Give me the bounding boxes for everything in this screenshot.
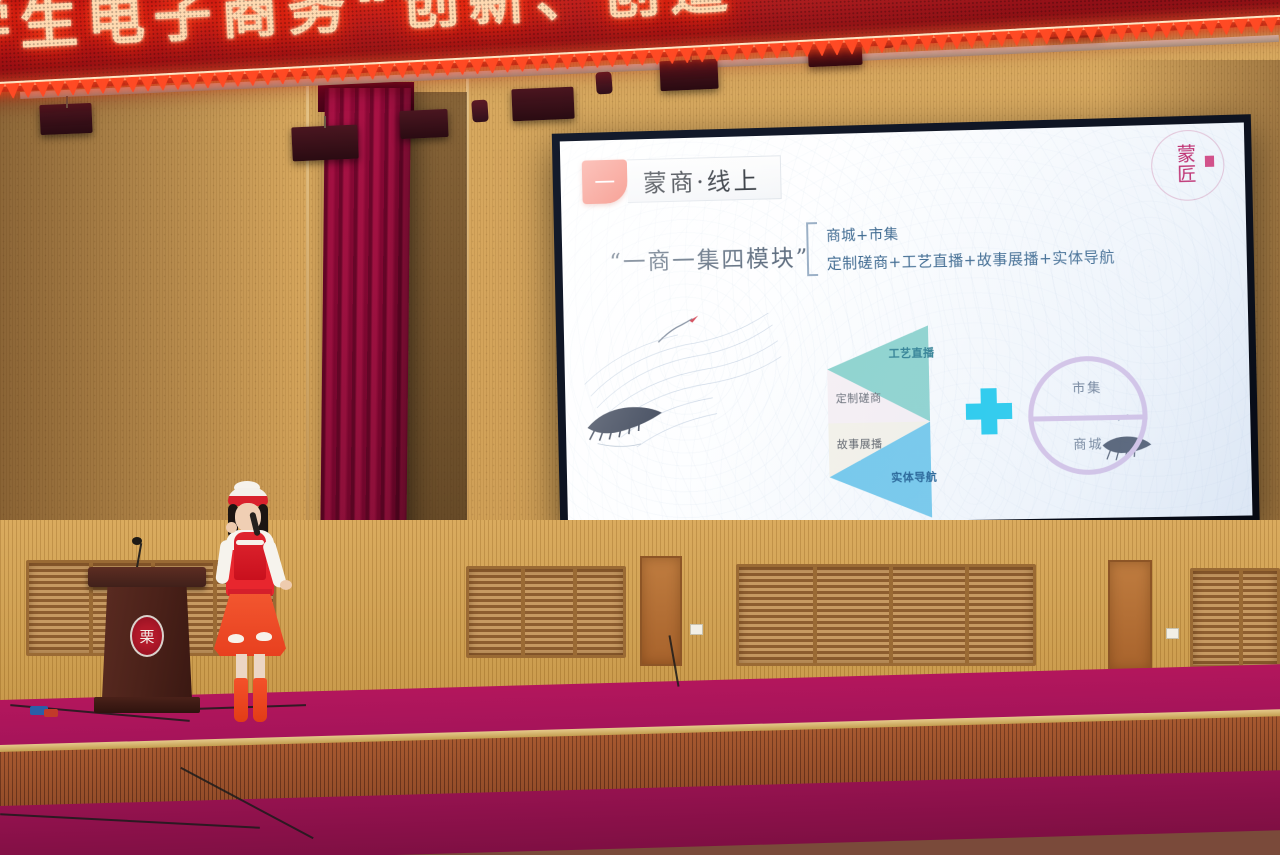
fringe-triangle — [110, 77, 126, 93]
wall-vent-louver — [1190, 568, 1280, 668]
fringe-triangle — [1203, 20, 1219, 36]
fringe-triangle — [215, 72, 231, 88]
wall-socket-plate[interactable] — [1166, 628, 1179, 639]
fringe-triangle — [679, 48, 695, 64]
wall-vent-louver — [466, 566, 626, 658]
fringe-triangle — [964, 33, 980, 49]
fringe-triangle — [80, 79, 96, 95]
fringe-triangle — [484, 58, 500, 74]
bracket-line: 商城+市集 — [826, 217, 1114, 245]
fringe-triangle — [1218, 19, 1234, 35]
fringe-triangle — [1158, 22, 1174, 38]
presenter — [206, 488, 296, 726]
fringe-triangle — [5, 83, 21, 99]
fringe-triangle — [290, 68, 306, 84]
fringe-triangle — [514, 56, 530, 72]
crane-illustration-large — [575, 295, 786, 473]
fringe-triangle — [1113, 25, 1129, 41]
fringe-triangle — [349, 65, 365, 81]
auditorium-scene: 学生电子商务“创新、创造 一 蒙商·线上 “一商一集四模块” 商城+市集 定制磋… — [0, 0, 1280, 855]
fringe-triangle — [829, 40, 845, 56]
fringe-triangle — [499, 57, 515, 73]
fringe-triangle — [320, 66, 336, 82]
fringe-triangle — [874, 37, 890, 53]
bracket-icon — [806, 222, 818, 276]
fringe-triangle — [305, 67, 321, 83]
fringe-triangle — [844, 39, 860, 55]
slide-title-group: 一 蒙商·线上 — [582, 155, 782, 204]
presenter-boot-right — [253, 678, 267, 722]
stage-light — [291, 125, 358, 162]
fringe-triangle — [95, 78, 111, 94]
fringe-triangle — [799, 41, 815, 57]
lectern: 栗 — [92, 567, 202, 717]
fringe-triangle — [709, 46, 725, 62]
fringe-triangle — [245, 70, 261, 86]
fringe-triangle — [469, 59, 485, 75]
lectern-top — [88, 567, 206, 587]
bracket-line-list: 商城+市集 定制磋商+工艺直播+故事展播+实体导航 — [826, 215, 1115, 276]
bracket-group: 商城+市集 定制磋商+工艺直播+故事展播+实体导航 — [806, 215, 1115, 277]
wall-access-door[interactable] — [1108, 560, 1152, 672]
fringe-triangle — [904, 36, 920, 52]
projection-screen-bezel: 一 蒙商·线上 “一商一集四模块” 商城+市集 定制磋商+工艺直播+故事展播+实… — [552, 114, 1260, 535]
fan-label-custom: 定制磋商 — [836, 392, 882, 406]
fringe-triangle — [949, 33, 965, 49]
plus-operator-icon — [965, 388, 1012, 435]
fringe-triangle — [1068, 27, 1084, 43]
projection-screen: 一 蒙商·线上 “一商一集四模块” 商城+市集 定制磋商+工艺直播+故事展播+实… — [560, 122, 1253, 526]
fringe-triangle — [454, 59, 470, 75]
fringe-triangle — [170, 74, 186, 90]
fringe-triangle — [919, 35, 935, 51]
fringe-triangle — [619, 51, 635, 67]
fringe-triangle — [185, 73, 201, 89]
fringe-triangle — [439, 60, 455, 76]
brand-logo-line-2: 匠 — [1177, 165, 1197, 186]
presenter-hand-left — [226, 522, 237, 533]
fringe-triangle — [1009, 30, 1025, 46]
costume-skirt — [214, 594, 286, 656]
fringe-triangle — [574, 53, 590, 69]
fringe-triangle — [859, 38, 875, 54]
light-mount — [324, 116, 326, 128]
fringe-triangle — [424, 61, 440, 77]
fringe-triangle — [544, 55, 560, 71]
wall-access-door[interactable] — [640, 556, 682, 666]
fringe-triangle — [979, 32, 995, 48]
seal-stamp-icon — [1205, 156, 1214, 167]
lectern-base — [94, 697, 200, 713]
fringe-triangle — [140, 76, 156, 92]
stage-light — [511, 87, 574, 122]
fringe-triangle — [230, 71, 246, 87]
presenter-boot-left — [234, 678, 248, 722]
fringe-triangle — [20, 82, 36, 98]
fringe-triangle — [1053, 28, 1069, 44]
skirt-motif — [256, 632, 272, 641]
slide-title: 蒙商·线上 — [627, 155, 782, 203]
fringe-triangle — [1188, 21, 1204, 37]
fringe-triangle — [1083, 26, 1099, 42]
presenter-hand-right — [280, 580, 292, 590]
fringe-triangle — [409, 62, 425, 78]
fringe-triangle — [1039, 29, 1055, 45]
fringe-triangle — [275, 69, 291, 85]
fringe-triangle — [889, 37, 905, 53]
wall-vent-louver — [736, 564, 1036, 666]
fringe-triangle — [65, 80, 81, 96]
fringe-triangle — [1098, 26, 1114, 42]
fringe-triangle — [814, 40, 830, 56]
four-module-fan-diagram: 工艺直播 定制磋商 故事展播 实体导航 — [826, 325, 946, 519]
fringe-triangle — [739, 44, 755, 60]
fringe-triangle — [155, 75, 171, 91]
fringe-triangle — [529, 55, 545, 71]
fringe-triangle — [379, 63, 395, 79]
fringe-triangle — [1173, 22, 1189, 38]
fringe-triangle — [934, 34, 950, 50]
fringe-triangle — [769, 43, 785, 59]
fringe-triangle — [784, 42, 800, 58]
fringe-triangle — [754, 44, 770, 60]
fan-label-physical-nav: 实体导航 — [891, 471, 937, 485]
stage-light — [471, 99, 488, 122]
fringe-triangle — [1024, 29, 1040, 45]
skirt-motif — [228, 634, 244, 643]
fringe-triangle — [1128, 24, 1144, 40]
fringe-triangle — [260, 70, 276, 86]
brand-logo: 蒙 匠 — [1155, 131, 1219, 199]
slide-headline: “一商一集四模块” — [609, 238, 810, 277]
fringe-triangle — [35, 81, 51, 97]
circle-divider — [1028, 414, 1147, 421]
fringe-triangle — [125, 77, 141, 93]
fan-label-craft-live: 工艺直播 — [888, 347, 934, 361]
fringe-triangle — [394, 62, 410, 78]
fringe-triangle — [604, 51, 620, 67]
fringe-triangle — [200, 73, 216, 89]
fringe-triangle — [694, 47, 710, 63]
fringe-triangle — [1263, 17, 1279, 33]
fringe-triangle — [1233, 18, 1249, 34]
fringe-triangle — [334, 66, 350, 82]
fringe-triangle — [994, 31, 1010, 47]
costume-trim — [236, 540, 264, 545]
slide-number-badge: 一 — [582, 159, 628, 204]
fringe-triangle — [724, 45, 740, 61]
circle-label-market: 市集 — [1033, 376, 1142, 397]
fringe-triangle — [50, 81, 66, 97]
institution-emblem: 栗 — [130, 615, 164, 657]
stage-light — [399, 109, 448, 139]
fan-label-story: 故事展播 — [837, 438, 883, 452]
fringe-triangle — [634, 50, 650, 66]
fringe-triangle — [559, 54, 575, 70]
fringe-triangle — [1143, 23, 1159, 39]
fringe-triangle — [589, 52, 605, 68]
fringe-triangle — [649, 49, 665, 65]
fringe-triangle — [664, 48, 680, 64]
cable-connector — [44, 709, 58, 717]
fringe-triangle — [1248, 18, 1264, 34]
wall-socket-plate[interactable] — [690, 624, 703, 635]
bracket-line: 定制磋商+工艺直播+故事展播+实体导航 — [827, 245, 1116, 273]
circle-label-mall: 商城 — [1034, 433, 1144, 454]
fringe-triangle — [364, 64, 380, 80]
